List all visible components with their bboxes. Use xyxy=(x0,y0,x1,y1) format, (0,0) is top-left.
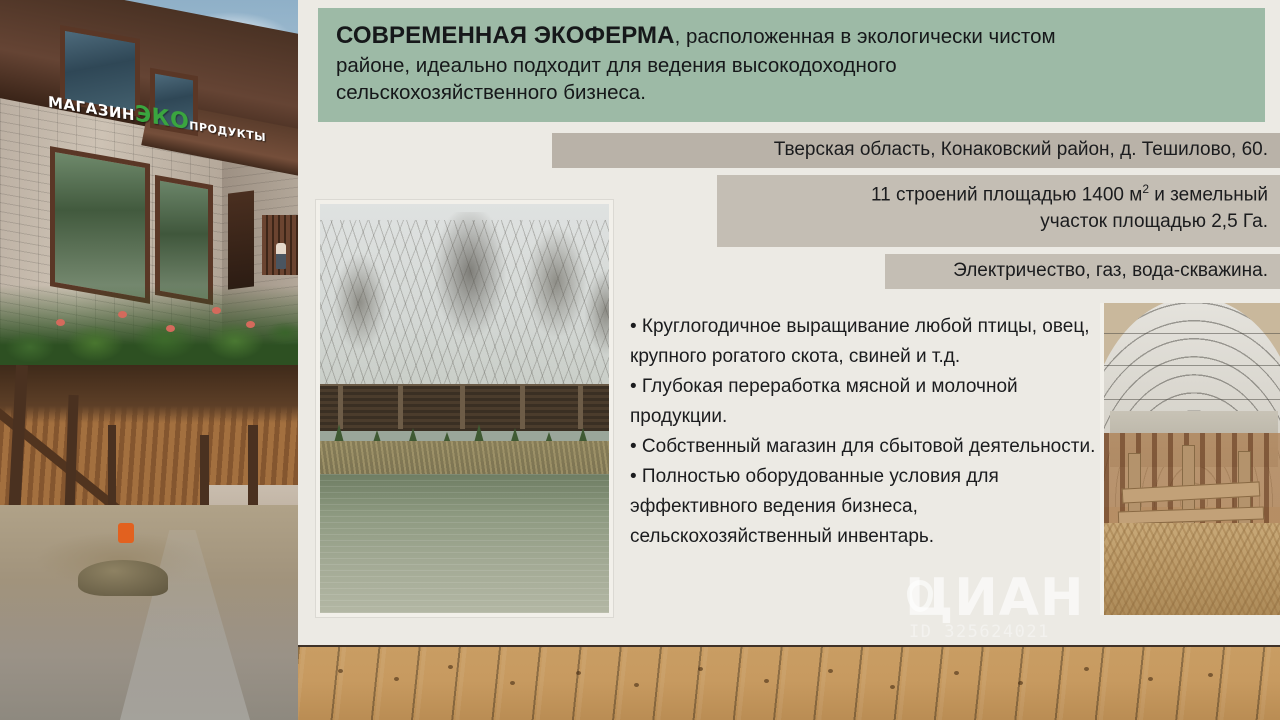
headline-line-1: СОВРЕМЕННАЯ ЭКОФЕРМА, расположенная в эк… xyxy=(336,20,1251,52)
person-figure xyxy=(276,243,286,269)
infobar-area-text-a: 11 строений площадью 1400 м xyxy=(871,184,1142,205)
headline-line-2: районе, идеально подходит для ведения вы… xyxy=(336,52,1251,79)
infobar-area-text-b: и земельный xyxy=(1149,184,1268,205)
photo-pond xyxy=(316,200,613,617)
infobar-address: Тверская область, Конаковский район, д. … xyxy=(552,133,1280,168)
shop-door xyxy=(228,190,254,289)
window-large-left xyxy=(50,146,150,304)
bullet-item: • Собственный магазин для сбытовой деяте… xyxy=(630,432,1100,462)
headline-strong: СОВРЕМЕННАЯ ЭКОФЕРМА xyxy=(336,22,675,49)
headline-banner: СОВРЕМЕННАЯ ЭКОФЕРМА, расположенная в эк… xyxy=(318,8,1265,122)
bushes-foreground xyxy=(0,285,298,365)
roof-shadow xyxy=(0,365,298,423)
wood-floor-strip xyxy=(298,645,1280,720)
infobar-utilities-text: Электричество, газ, вода-скважина. xyxy=(953,260,1268,281)
headline-rest: , расположенная в экологически чистом xyxy=(675,25,1056,48)
photo-barn-corridor xyxy=(0,365,298,720)
headline-line-3: сельскохозяйственного бизнеса. xyxy=(336,79,1251,106)
bullet-item: • Круглогодичное выращивание любой птицы… xyxy=(630,312,1100,372)
infobar-area-line1: 11 строений площадью 1400 м2 и земельный xyxy=(731,181,1268,209)
pond-water xyxy=(320,474,609,613)
left-photo-column: МАГАЗИНЭКОПРОДУКТЫ xyxy=(0,0,298,720)
infobar-area-superscript: 2 xyxy=(1142,182,1149,196)
infobar-utilities: Электричество, газ, вода-скважина. xyxy=(885,254,1280,289)
infobar-area: 11 строений площадью 1400 м2 и земельный… xyxy=(717,175,1280,247)
infobar-address-text: Тверская область, Конаковский район, д. … xyxy=(774,139,1268,160)
slide-root: МАГАЗИНЭКОПРОДУКТЫ xyxy=(0,0,1280,720)
hay-pile xyxy=(78,560,168,596)
feature-bullet-list: • Круглогодичное выращивание любой птицы… xyxy=(630,312,1100,552)
orange-object xyxy=(118,523,134,543)
photo-eco-shop: МАГАЗИНЭКОПРОДУКТЫ xyxy=(0,0,298,365)
infobar-area-line2: участок площадью 2,5 Га. xyxy=(731,209,1268,236)
pond-bare-branches xyxy=(320,220,609,392)
photo-greenhouse-barn xyxy=(1100,303,1280,615)
bullet-item: • Глубокая переработка мясной и молочной… xyxy=(630,372,1100,432)
bullet-item: • Полностью оборудованные условия для эф… xyxy=(630,462,1100,552)
greenhouse-straw-floor xyxy=(1104,523,1280,615)
